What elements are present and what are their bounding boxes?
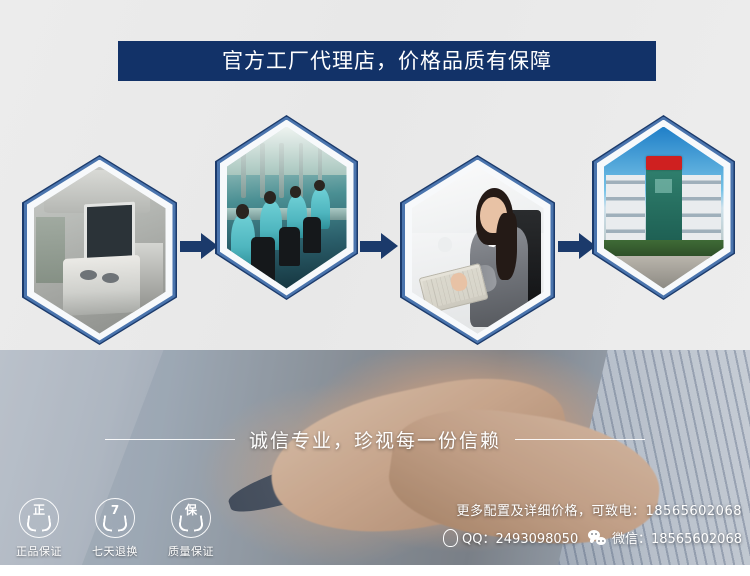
badge-glyph: 保: [172, 504, 210, 516]
trust-section: 诚信专业，珍视每一份信赖 正 正品保证 7 七天退换: [0, 350, 750, 565]
footer-whitespace: [0, 565, 750, 576]
tagline-text: 诚信专业，珍视每一份信赖: [249, 426, 501, 453]
qq-penguin-icon: [442, 529, 456, 546]
factory-line-photo: [227, 127, 347, 289]
badge-authentic: 正 正品保证: [8, 498, 70, 560]
process-step-building[interactable]: [592, 115, 735, 300]
company-building-photo: [604, 127, 724, 289]
hex-photo-frame: [227, 127, 347, 289]
badge-seven-day-return: 7 七天退换: [84, 498, 146, 560]
flow-arrow-1-icon: [180, 233, 218, 259]
hands-holding-zheng-icon: 正: [19, 498, 59, 538]
hex-inner-border: [402, 157, 554, 344]
office-staff-photo: [412, 167, 544, 334]
hex-white-frame: [27, 160, 173, 341]
hex-photo-frame: [604, 127, 724, 289]
hex-inner-border: [24, 157, 176, 344]
tagline-rule-left: [105, 439, 235, 440]
badge-quality: 保 质量保证: [160, 498, 222, 560]
flow-arrow-3-icon: [558, 233, 596, 259]
hex-white-frame: [597, 120, 731, 296]
hex-photo-frame: [412, 167, 544, 334]
tagline-rule-right: [515, 439, 645, 440]
page-title: 官方工厂代理店，价格品质有保障: [222, 51, 552, 72]
tagline-row: 诚信专业，珍视每一份信赖: [0, 424, 750, 454]
wechat-bubbles-icon: [588, 530, 606, 545]
hex-border: [22, 155, 177, 345]
contact-block: 更多配置及详细价格，可致电：18565602068 QQ：2493098050 …: [442, 500, 742, 547]
hex-border: [215, 115, 358, 300]
hex-border: [592, 115, 735, 300]
hex-inner-border: [594, 117, 734, 299]
promo-page: 官方工厂代理店，价格品质有保障: [0, 0, 750, 576]
hands-holding-bao-icon: 保: [171, 498, 211, 538]
hex-white-frame: [405, 160, 551, 341]
hex-white-frame: [220, 120, 354, 296]
badge-glyph: 7: [96, 504, 134, 516]
hex-photo-frame: [34, 167, 166, 334]
badge-label: 七天退换: [84, 543, 146, 559]
contact-phone-line[interactable]: 更多配置及详细价格，可致电：18565602068: [442, 500, 742, 519]
top-section: 官方工厂代理店，价格品质有保障: [0, 0, 750, 350]
contact-wechat-label[interactable]: 微信：18565602068: [612, 528, 742, 547]
hex-inner-border: [217, 117, 357, 299]
process-step-service[interactable]: [400, 155, 555, 345]
process-step-equipment[interactable]: [22, 155, 177, 345]
medical-equipment-photo: [34, 167, 166, 334]
process-step-factory[interactable]: [215, 115, 358, 300]
guarantee-badges: 正 正品保证 7 七天退换 保 质量保证: [8, 498, 223, 560]
badge-glyph: 正: [20, 504, 58, 516]
header-banner: 官方工厂代理店，价格品质有保障: [118, 41, 656, 81]
badge-label: 质量保证: [160, 543, 222, 559]
contact-qq-label[interactable]: QQ：2493098050: [462, 528, 578, 547]
badge-label: 正品保证: [8, 543, 70, 559]
flow-arrow-2-icon: [360, 233, 398, 259]
contact-im-line: QQ：2493098050 微信：18565602068: [442, 528, 742, 547]
hands-holding-seven-icon: 7: [95, 498, 135, 538]
process-flow: [0, 100, 750, 350]
hex-border: [400, 155, 555, 345]
